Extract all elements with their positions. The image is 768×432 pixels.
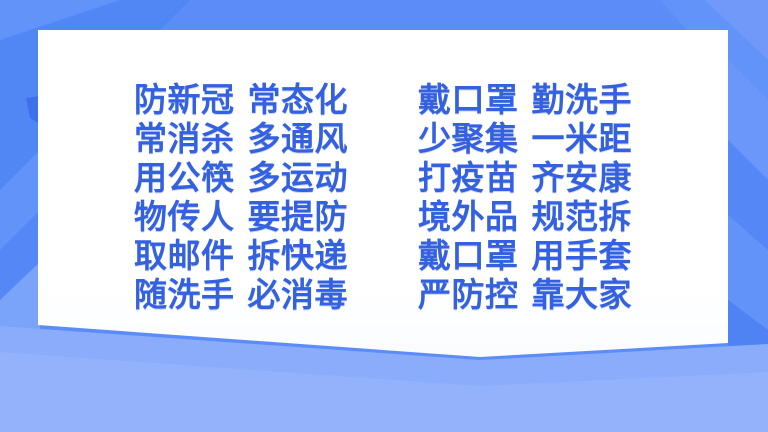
- slogan-line-left-4: 物传人要提防: [134, 197, 348, 236]
- slogan-grid: 防新冠常态化 戴口罩勤洗手 常消杀多通风 少聚集一米距 用公筷多运动 打疫苗齐安…: [134, 80, 632, 314]
- slogan-right-2-second: 一米距: [532, 119, 633, 158]
- slogan-line-left-3: 用公筷多运动: [134, 158, 348, 197]
- slogan-right-5-second: 用手套: [532, 236, 633, 275]
- slogan-line-right-1: 戴口罩勤洗手: [418, 80, 632, 119]
- slogan-line-right-3: 打疫苗齐安康: [418, 158, 632, 197]
- slogan-right-3-first: 打疫苗: [418, 158, 519, 197]
- slogan-left-1-first: 防新冠: [134, 80, 235, 119]
- slogan-left-4-first: 物传人: [134, 197, 235, 236]
- slogan-left-6-second: 必消毒: [248, 275, 349, 314]
- slogan-right-4-second: 规范拆: [532, 197, 633, 236]
- slogan-left-4-second: 要提防: [248, 197, 349, 236]
- slogan-line-right-4: 境外品规范拆: [418, 197, 632, 236]
- slogan-right-6-second: 靠大家: [532, 275, 633, 314]
- slogan-left-2-first: 常消杀: [134, 119, 235, 158]
- slogan-line-left-5: 取邮件拆快递: [134, 236, 348, 275]
- slogan-line-left-1: 防新冠常态化: [134, 80, 348, 119]
- slogan-left-2-second: 多通风: [248, 119, 349, 158]
- slogan-left-5-second: 拆快递: [248, 236, 349, 275]
- poster-root: 防新冠常态化 戴口罩勤洗手 常消杀多通风 少聚集一米距 用公筷多运动 打疫苗齐安…: [0, 0, 768, 432]
- slogan-right-1-second: 勤洗手: [532, 80, 633, 119]
- slogan-left-3-second: 多运动: [248, 158, 349, 197]
- slogan-container: 防新冠常态化 戴口罩勤洗手 常消杀多通风 少聚集一米距 用公筷多运动 打疫苗齐安…: [38, 30, 728, 325]
- slogan-line-right-2: 少聚集一米距: [418, 119, 632, 158]
- slogan-right-1-first: 戴口罩: [418, 80, 519, 119]
- slogan-left-1-second: 常态化: [248, 80, 349, 119]
- slogan-right-3-second: 齐安康: [532, 158, 633, 197]
- slogan-line-left-2: 常消杀多通风: [134, 119, 348, 158]
- slogan-line-right-6: 严防控靠大家: [418, 275, 632, 314]
- slogan-right-2-first: 少聚集: [418, 119, 519, 158]
- slogan-right-5-first: 戴口罩: [418, 236, 519, 275]
- slogan-right-4-first: 境外品: [418, 197, 519, 236]
- slogan-left-6-first: 随洗手: [134, 275, 235, 314]
- slogan-left-3-first: 用公筷: [134, 158, 235, 197]
- slogan-right-6-first: 严防控: [418, 275, 519, 314]
- slogan-left-5-first: 取邮件: [134, 236, 235, 275]
- slogan-line-left-6: 随洗手必消毒: [134, 275, 348, 314]
- slogan-line-right-5: 戴口罩用手套: [418, 236, 632, 275]
